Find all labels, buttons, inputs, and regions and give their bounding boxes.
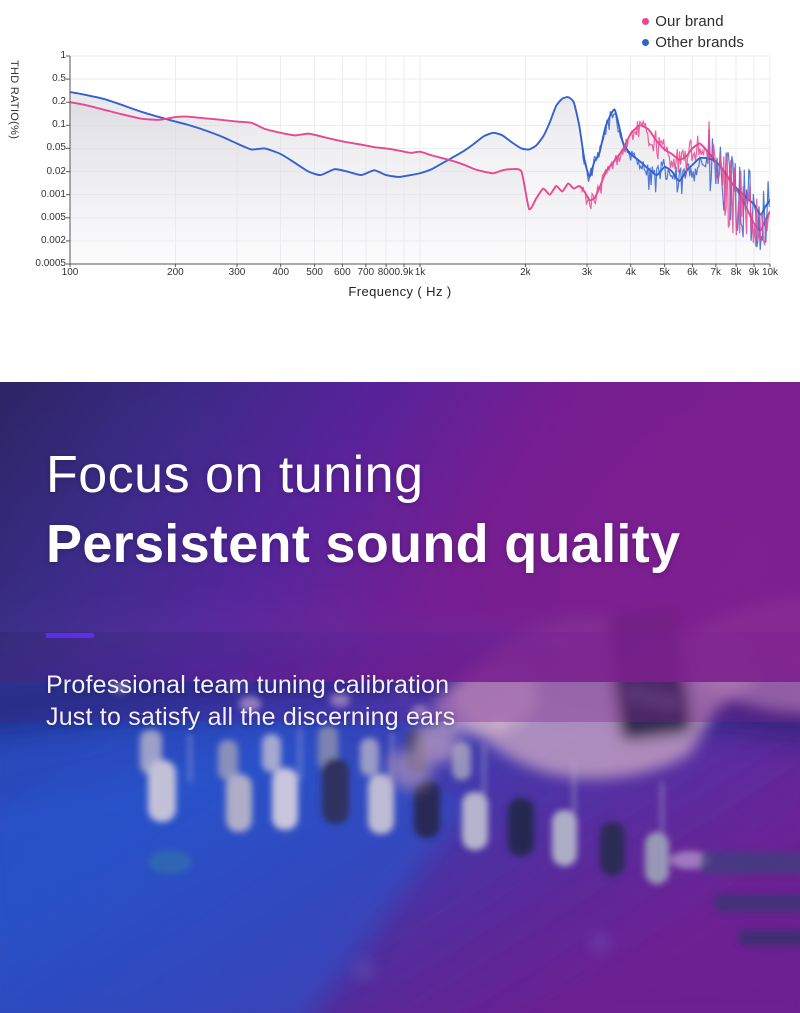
hero-subtitle-line-2: Just to satisfy all the discerning ears <box>46 702 706 734</box>
hero-subtitle-line-1: Professional team tuning calibration <box>46 670 706 702</box>
hero-text-block: Focus on tuning Persistent sound quality <box>46 448 766 573</box>
chart-x-tick: 200 <box>155 267 195 278</box>
chart-x-tick: 100 <box>50 267 90 278</box>
legend-item-other-brands[interactable]: Other brands <box>642 35 744 50</box>
legend-label: Other brands <box>655 35 744 50</box>
legend-item-our-brand[interactable]: Our brand <box>642 14 744 29</box>
chart-legend: Our brand Other brands <box>642 14 744 50</box>
product-detail-page: THD RATIO(%) <box>0 0 800 1013</box>
chart-y-tick: 0.05 <box>20 142 66 153</box>
chart-y-tick: 0.005 <box>20 212 66 223</box>
legend-dot-icon <box>642 39 649 46</box>
legend-dot-icon <box>642 18 649 25</box>
thd-ratio-chart <box>0 0 800 382</box>
chart-y-tick: 1 <box>20 50 66 61</box>
hero-title-primary: Focus on tuning <box>46 448 766 502</box>
chart-x-tick: 3k <box>567 267 607 278</box>
chart-x-tick: 300 <box>217 267 257 278</box>
hero-accent-divider <box>46 633 94 638</box>
chart-y-tick: 0.1 <box>20 119 66 130</box>
chart-x-axis-title: Frequency ( Hz ) <box>0 284 800 299</box>
chart-y-tick: 0.001 <box>20 189 66 200</box>
legend-label: Our brand <box>655 14 723 29</box>
chart-y-tick: 0.02 <box>20 166 66 177</box>
chart-x-tick: 2k <box>505 267 545 278</box>
thd-chart-section: THD RATIO(%) <box>0 0 800 382</box>
chart-x-tick: 10k <box>750 267 790 278</box>
hero-subtitle-block: Professional team tuning calibration Jus… <box>46 670 706 733</box>
chart-y-tick: 0.002 <box>20 235 66 246</box>
chart-y-tick: 0.5 <box>20 73 66 84</box>
tuning-hero-banner: Focus on tuning Persistent sound quality… <box>0 382 800 1013</box>
chart-x-tick: 1k <box>400 267 440 278</box>
chart-y-tick: 0.2 <box>20 96 66 107</box>
hero-title-secondary: Persistent sound quality <box>46 516 766 573</box>
